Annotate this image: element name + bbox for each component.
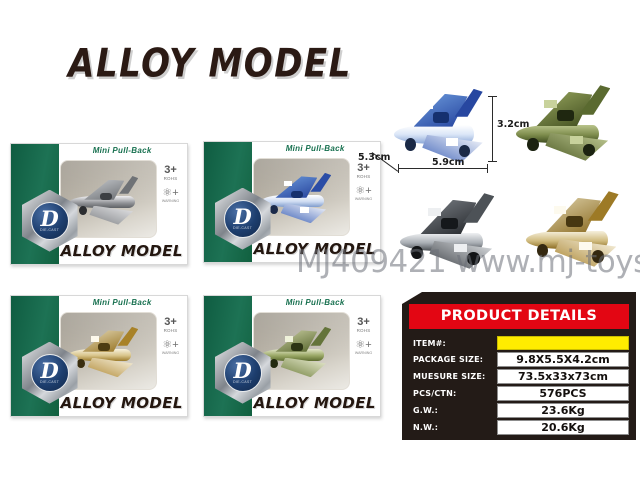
age-warning-column: 3+ ROHS ⚛+ WARNING [350, 316, 377, 355]
row-value: 9.8X5.5X4.2cm [497, 352, 629, 367]
loose-plane-gray-black-camo-jet [398, 190, 510, 272]
warning-label: WARNING [157, 199, 184, 203]
rohs-label: ROHS [157, 328, 184, 333]
badge-letter: D [40, 210, 58, 228]
dimension-length-label: 5.9cm [432, 157, 464, 168]
warning-icon: ⚛+ [350, 186, 377, 197]
dim-tick-height-bottom [488, 161, 497, 162]
age-grade-value: 3+ [350, 162, 377, 174]
dim-line-height [492, 96, 493, 162]
product-details-panel: PRODUCT DETAILS ITEM#: PACKAGE SIZE: 9.8… [402, 292, 636, 440]
row-value[interactable] [497, 336, 629, 350]
badge-letter: D [40, 362, 58, 380]
warning-icon: ⚛+ [157, 188, 184, 199]
badge-sublabel: DIE-CAST [40, 380, 59, 384]
box-banner-text: Mini Pull-Back [60, 298, 184, 311]
table-row: G.W.: 23.6Kg [409, 403, 629, 418]
table-row: PCS/CTN: 576PCS [409, 386, 629, 401]
row-label: PACKAGE SIZE: [409, 352, 497, 367]
age-grade-value: 3+ [350, 316, 377, 328]
age-warning-column: 3+ ROHS ⚛+ WARNING [350, 162, 377, 201]
row-value: 73.5x33x73cm [497, 369, 629, 384]
row-label: N.W.: [409, 420, 497, 435]
badge-sublabel: DIE-CAST [233, 226, 252, 230]
row-value: 23.6Kg [497, 403, 629, 418]
rohs-label: ROHS [157, 176, 184, 181]
warning-label: WARNING [157, 351, 184, 355]
box-brand-label: ALLOY MODEL [59, 391, 185, 415]
badge-letter: D [233, 208, 251, 226]
box-banner-text: Mini Pull-Back [253, 298, 377, 311]
product-details-body: ITEM#: PACKAGE SIZE: 9.8X5.5X4.2cm MUESU… [409, 336, 629, 435]
age-warning-column: 3+ ROHS ⚛+ WARNING [157, 164, 184, 203]
product-box-tan[interactable]: Mini Pull-Back 3+ ROHS ⚛+ WARNING D DIE-… [10, 295, 188, 417]
dim-tick-length-right [487, 164, 488, 173]
row-value: 576PCS [497, 386, 629, 401]
badge-inner-circle: D DIE-CAST [31, 202, 69, 240]
box-brand-label: ALLOY MODEL [252, 237, 378, 261]
warning-label: WARNING [350, 197, 377, 201]
product-box-blue[interactable]: Mini Pull-Back 3+ ROHS ⚛+ WARNING D DIE-… [203, 141, 381, 263]
badge-inner-circle: D DIE-CAST [31, 354, 69, 392]
table-row: MUESURE SIZE: 73.5x33x73cm [409, 369, 629, 384]
toy-plane-blue-white-digital-camo-jet [258, 168, 345, 227]
warning-icon: ⚛+ [350, 340, 377, 351]
age-warning-column: 3+ ROHS ⚛+ WARNING [157, 316, 184, 355]
loose-plane-blue-white-digital-camo-jet [392, 84, 500, 166]
toy-plane-silver-gray-camo-jet [65, 170, 152, 229]
badge-inner-circle: D DIE-CAST [224, 354, 262, 392]
row-label: G.W.: [409, 403, 497, 418]
badge-sublabel: DIE-CAST [40, 228, 59, 232]
product-box-silver[interactable]: Mini Pull-Back 3+ ROHS ⚛+ WARNING D DIE-… [10, 143, 188, 265]
warning-label: WARNING [350, 351, 377, 355]
loose-plane-green-olive-camo-jet [514, 82, 626, 164]
page-title: ALLOY MODEL [0, 41, 420, 87]
dim-line-length [398, 168, 488, 169]
table-row: PACKAGE SIZE: 9.8X5.5X4.2cm [409, 352, 629, 367]
row-label: MUESURE SIZE: [409, 369, 497, 384]
dimension-depth-label: 5.3cm [358, 152, 390, 163]
row-label: PCS/CTN: [409, 386, 497, 401]
loose-plane-tan-desert-camo-jet [524, 188, 634, 270]
warning-icon: ⚛+ [157, 340, 184, 351]
table-row: ITEM#: [409, 336, 629, 350]
box-banner-text: Mini Pull-Back [60, 146, 184, 159]
table-row: N.W.: 20.6Kg [409, 420, 629, 435]
age-grade-value: 3+ [157, 316, 184, 328]
row-label: ITEM#: [409, 336, 497, 350]
product-details-table: ITEM#: PACKAGE SIZE: 9.8X5.5X4.2cm MUESU… [409, 334, 629, 437]
product-details-title: PRODUCT DETAILS [409, 304, 629, 329]
toy-plane-tan-desert-camo-jet [65, 322, 152, 381]
badge-letter: D [233, 362, 251, 380]
dim-tick-length-left [398, 164, 399, 173]
rohs-label: ROHS [350, 328, 377, 333]
row-value: 20.6Kg [497, 420, 629, 435]
age-grade-value: 3+ [157, 164, 184, 176]
box-brand-label: ALLOY MODEL [252, 391, 378, 415]
toy-plane-green-olive-camo-jet [258, 322, 345, 381]
product-box-green[interactable]: Mini Pull-Back 3+ ROHS ⚛+ WARNING D DIE-… [203, 295, 381, 417]
rohs-label: ROHS [350, 174, 377, 179]
badge-inner-circle: D DIE-CAST [224, 200, 262, 238]
box-brand-label: ALLOY MODEL [59, 239, 185, 263]
dim-tick-height-top [488, 96, 497, 97]
badge-sublabel: DIE-CAST [233, 380, 252, 384]
